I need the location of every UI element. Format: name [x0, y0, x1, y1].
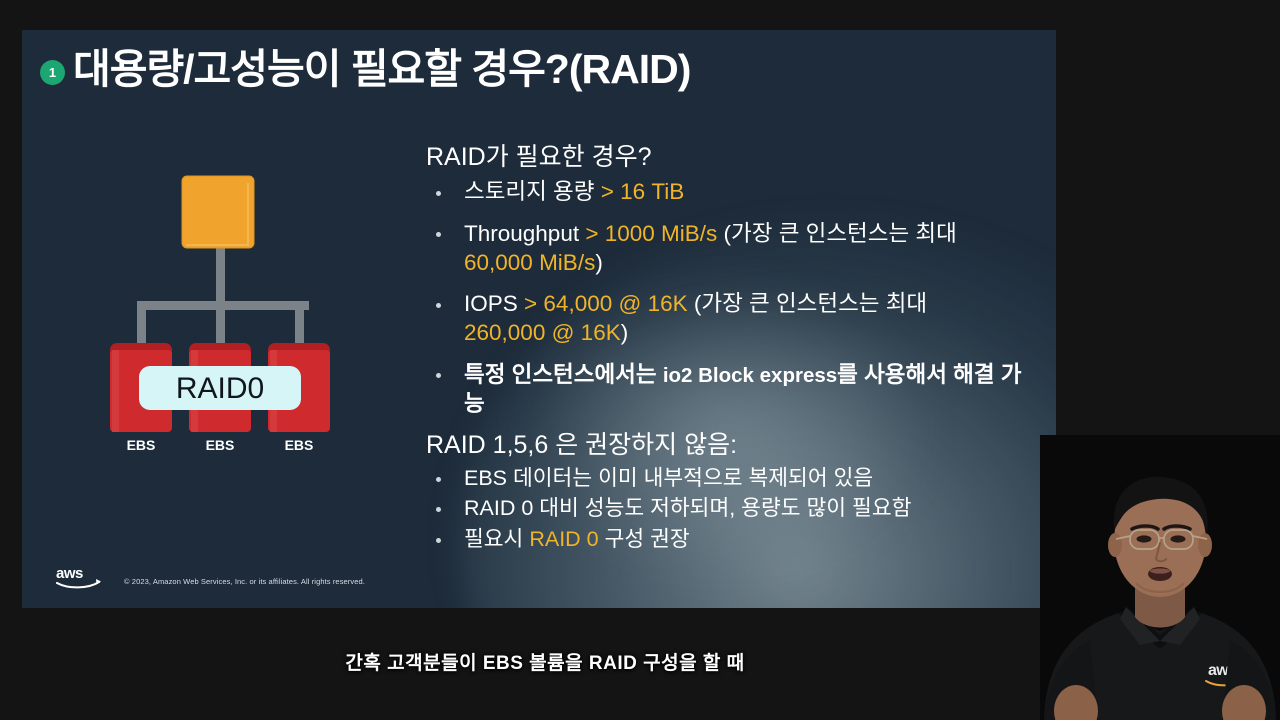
- highlight-text-part2: io2 Block express: [663, 364, 837, 387]
- bullet-dot-icon: [436, 191, 441, 196]
- ec2-instance-node: [182, 176, 254, 248]
- bullet-list-not-recommended: EBS 데이터는 이미 내부적으로 복제되어 있음 RAID 0 대비 성능도 …: [426, 464, 1036, 555]
- slide-footer: aws © 2023, Amazon Web Services, Inc. or…: [56, 564, 365, 590]
- page-title: 대용량/고성능이 필요할 경우?(RAID): [73, 48, 690, 91]
- ebs-caption-2: EBS: [206, 437, 235, 453]
- section-heading-1: RAID가 필요한 경우?: [426, 142, 1036, 173]
- bullet-text-gold: > 64,000 @ 16K: [524, 291, 688, 316]
- bullet-dot-icon: [436, 477, 441, 482]
- bullet-ebs-replicated: EBS 데이터는 이미 내부적으로 복제되어 있음: [426, 464, 1036, 494]
- connector-lines: [137, 242, 309, 357]
- bullet-text-gold: RAID 0: [529, 527, 598, 551]
- aws-logo: aws: [56, 564, 104, 590]
- presentation-slide: 1 대용량/고성능이 필요할 경우?(RAID): [22, 30, 1056, 608]
- raid0-diagram-svg: RAID0 EBS EBS EBS: [82, 170, 382, 470]
- slide-body: RAID가 필요한 경우? 스토리지 용량 > 16 TiB Throughpu…: [426, 142, 1036, 556]
- presenter-video: aws: [1040, 435, 1280, 720]
- bullet-text-plain: IOPS: [464, 291, 524, 316]
- bullet-text-post: 구성 권장: [599, 527, 690, 551]
- bullet-text-tail: (가장 큰 인스턴스는 최대: [688, 291, 928, 316]
- bullet-text-gold: > 1000 MiB/s: [585, 221, 717, 246]
- bullet-storage-capacity: 스토리지 용량 > 16 TiB: [426, 177, 1036, 206]
- presenter-portrait: aws: [1040, 435, 1280, 720]
- bullet-dot-icon: [436, 538, 441, 543]
- section-heading-2: RAID 1,5,6 은 권장하지 않음:: [426, 430, 1036, 461]
- bullet-io2-block-express: 특정 인스턴스에서는 io2 Block express를 사용해서 해결 가능: [426, 360, 1036, 419]
- bullet-text-plain: 스토리지 용량: [464, 179, 601, 204]
- bullet-text: EBS 데이터는 이미 내부적으로 복제되어 있음: [464, 466, 873, 490]
- bullet-text: RAID 0 대비 성능도 저하되며, 용량도 많이 필요함: [464, 496, 911, 520]
- ebs-caption-1: EBS: [127, 437, 156, 453]
- bullet-dot-icon: [436, 373, 441, 378]
- bullet-dot-icon: [436, 507, 441, 512]
- bullet-raid0-performance: RAID 0 대비 성능도 저하되며, 용량도 많이 필요함: [426, 494, 1036, 524]
- bullet-text-gold-2: 60,000 MiB/s: [464, 250, 595, 275]
- aws-logo-svg: aws: [56, 564, 104, 590]
- raid0-diagram: RAID0 EBS EBS EBS: [82, 170, 382, 470]
- slide-number-badge: 1: [40, 60, 65, 85]
- copyright-text: © 2023, Amazon Web Services, Inc. or its…: [124, 577, 365, 590]
- bullet-dot-icon: [436, 232, 441, 237]
- bullet-throughput: Throughput > 1000 MiB/s (가장 큰 인스턴스는 최대 6…: [426, 219, 1036, 278]
- bullet-iops: IOPS > 64,000 @ 16K (가장 큰 인스턴스는 최대 260,0…: [426, 289, 1036, 348]
- bullet-text-gold-2: 260,000 @ 16K: [464, 320, 621, 345]
- bullet-text-plain: Throughput: [464, 221, 585, 246]
- bullet-text-tail: (가장 큰 인스턴스는 최대: [717, 221, 957, 246]
- svg-text:aws: aws: [56, 565, 83, 582]
- highlight-text-part1: 특정 인스턴스에서는: [464, 362, 663, 387]
- bullet-dot-icon: [436, 303, 441, 308]
- raid0-label-pill: RAID0: [139, 366, 301, 410]
- bullet-list-when-raid-needed: 스토리지 용량 > 16 TiB Throughput > 1000 MiB/s…: [426, 177, 1036, 418]
- subtitle-caption: 간혹 고객분들이 EBS 볼륨을 RAID 구성을 할 때: [0, 648, 1280, 675]
- video-frame: 1 대용량/고성능이 필요할 경우?(RAID): [0, 0, 1280, 720]
- bullet-text-tail-2: ): [621, 320, 629, 345]
- bullet-text-gold: > 16 TiB: [601, 179, 685, 204]
- ebs-caption-3: EBS: [285, 437, 314, 453]
- bullet-text-tail-2: ): [595, 250, 603, 275]
- bullet-raid0-recommended: 필요시 RAID 0 구성 권장: [426, 525, 1036, 555]
- bullet-text-pre: 필요시: [464, 527, 529, 551]
- slide-title-row: 1 대용량/고성능이 필요할 경우?(RAID): [40, 48, 1036, 91]
- raid0-label-text: RAID0: [176, 372, 264, 405]
